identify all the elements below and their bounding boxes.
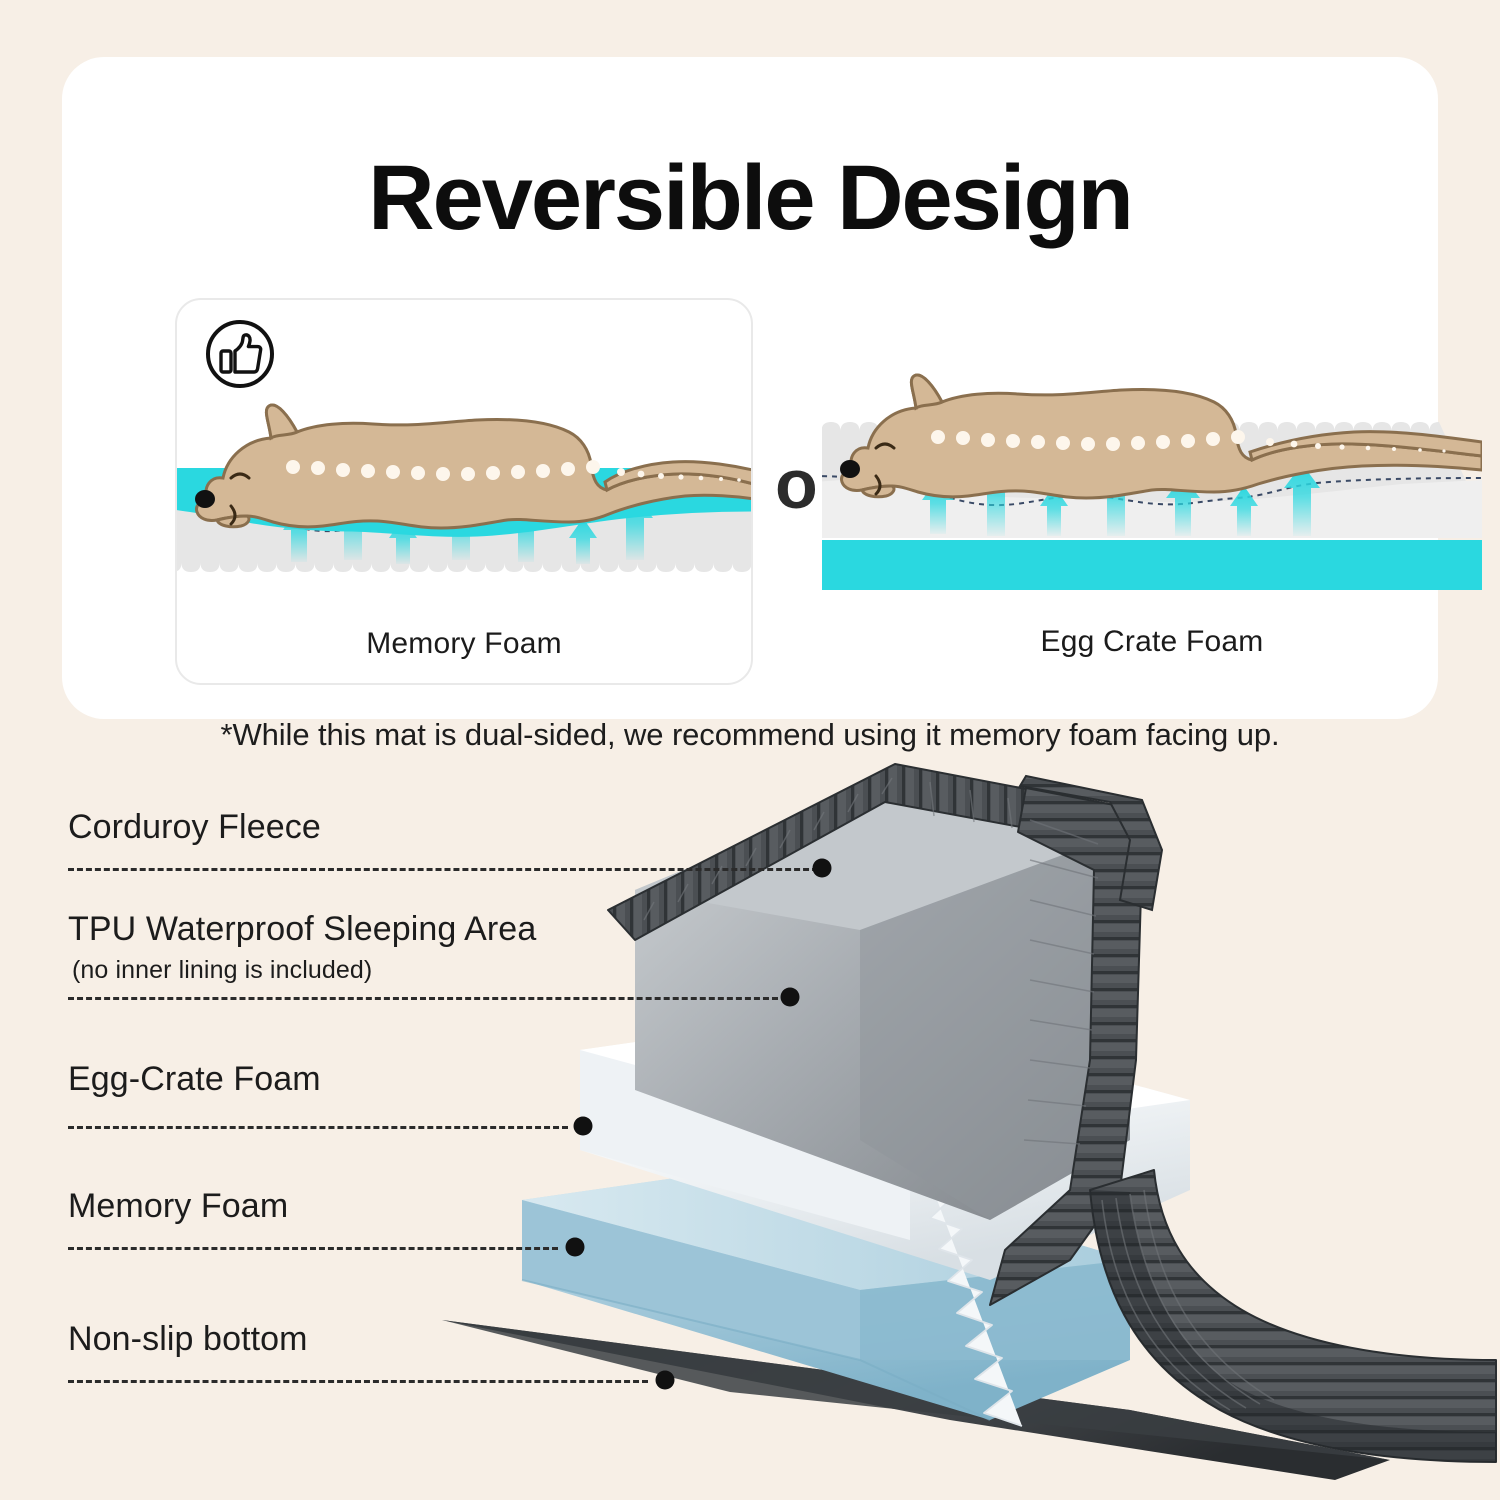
dot-tpu-waterproof	[781, 988, 800, 1007]
option-memory-foam-panel: Memory Foam	[175, 298, 753, 685]
label-corduroy-fleece: Corduroy Fleece	[68, 808, 321, 847]
thumbs-up-icon	[204, 318, 276, 390]
dot-non-slip-bottom	[656, 1371, 675, 1390]
layer-breakdown-section: Corduroy Fleece TPU Waterproof Sleeping …	[0, 720, 1500, 1500]
label-memory-foam: Memory Foam	[68, 1187, 288, 1226]
dot-memory-foam	[566, 1238, 585, 1257]
leader-tpu-waterproof	[68, 997, 778, 1000]
leader-egg-crate-foam	[68, 1126, 568, 1129]
caption-egg-crate-foam: Egg Crate Foam	[822, 625, 1482, 659]
leader-corduroy-fleece	[68, 868, 818, 871]
label-tpu-waterproof-note: (no inner lining is included)	[72, 956, 372, 985]
label-tpu-waterproof: TPU Waterproof Sleeping Area	[68, 910, 536, 949]
page-title: Reversible Design	[62, 152, 1438, 244]
egg-crate-illustration	[822, 298, 1482, 681]
dot-egg-crate-foam	[574, 1117, 593, 1136]
product-exploded-view	[430, 720, 1500, 1500]
infographic-root: Reversible Design	[0, 0, 1500, 1500]
caption-memory-foam: Memory Foam	[177, 627, 751, 661]
dot-corduroy-fleece	[813, 859, 832, 878]
leader-memory-foam	[68, 1247, 558, 1250]
option-egg-crate-panel: Egg Crate Foam	[822, 298, 1482, 681]
label-egg-crate-foam: Egg-Crate Foam	[68, 1060, 321, 1099]
label-non-slip-bottom: Non-slip bottom	[68, 1320, 308, 1359]
leader-non-slip-bottom	[68, 1380, 648, 1383]
reversible-design-card: Reversible Design	[62, 57, 1438, 719]
